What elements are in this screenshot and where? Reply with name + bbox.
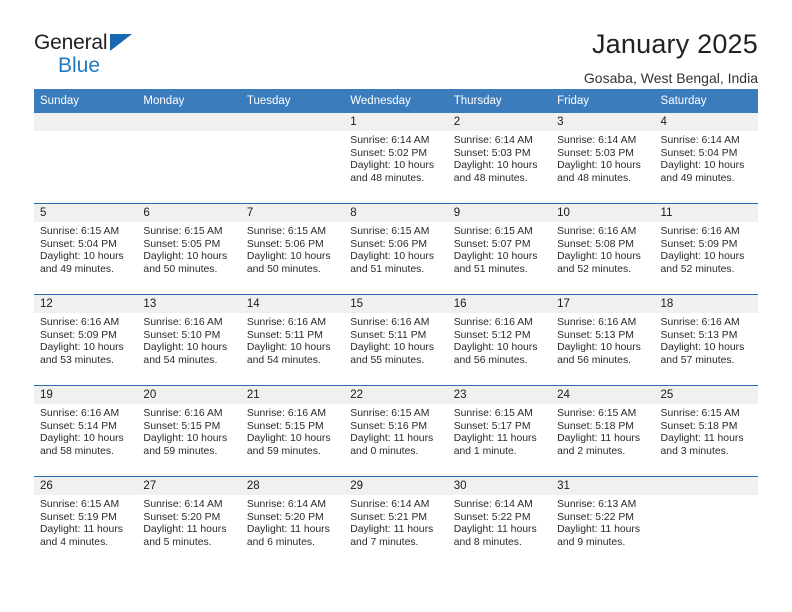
daylight-text-line1: Daylight: 10 hours: [350, 251, 441, 264]
day-sun-info: Sunrise: 6:15 AMSunset: 5:04 PMDaylight:…: [34, 222, 137, 276]
calendar-day-cell[interactable]: 12Sunrise: 6:16 AMSunset: 5:09 PMDayligh…: [34, 295, 137, 386]
sunset-text: Sunset: 5:03 PM: [454, 148, 545, 161]
daylight-text-line2: and 4 minutes.: [40, 537, 131, 550]
page-title: January 2025: [584, 28, 758, 60]
day-number: [34, 113, 137, 131]
calendar-day-cell[interactable]: 25Sunrise: 6:15 AMSunset: 5:18 PMDayligh…: [655, 386, 758, 477]
sunset-text: Sunset: 5:17 PM: [454, 421, 545, 434]
daylight-text-line1: Daylight: 11 hours: [40, 524, 131, 537]
sunrise-text: Sunrise: 6:14 AM: [454, 135, 545, 148]
calendar-day-content: 13Sunrise: 6:16 AMSunset: 5:10 PMDayligh…: [137, 295, 240, 385]
day-number: 2: [448, 113, 551, 131]
daylight-text-line1: Daylight: 11 hours: [350, 524, 441, 537]
daylight-text-line1: Daylight: 11 hours: [350, 433, 441, 446]
day-number: 7: [241, 204, 344, 222]
sunset-text: Sunset: 5:04 PM: [40, 239, 131, 252]
sunrise-text: Sunrise: 6:14 AM: [661, 135, 752, 148]
calendar-day-cell[interactable]: 28Sunrise: 6:14 AMSunset: 5:20 PMDayligh…: [241, 477, 344, 568]
weekday-header-wednesday: Wednesday: [344, 89, 447, 113]
calendar-day-content: 4Sunrise: 6:14 AMSunset: 5:04 PMDaylight…: [655, 113, 758, 203]
daylight-text-line1: Daylight: 11 hours: [454, 433, 545, 446]
day-number: 16: [448, 295, 551, 313]
calendar-day-cell[interactable]: 4Sunrise: 6:14 AMSunset: 5:04 PMDaylight…: [655, 113, 758, 204]
daylight-text-line2: and 59 minutes.: [247, 446, 338, 459]
sunset-text: Sunset: 5:22 PM: [557, 512, 648, 525]
daylight-text-line1: Daylight: 10 hours: [143, 342, 234, 355]
sunrise-text: Sunrise: 6:15 AM: [247, 226, 338, 239]
page-header: General Blue January 2025 Gosaba, West B…: [0, 0, 792, 75]
day-number: 26: [34, 477, 137, 495]
calendar-day-content: 9Sunrise: 6:15 AMSunset: 5:07 PMDaylight…: [448, 204, 551, 294]
daylight-text-line1: Daylight: 10 hours: [247, 251, 338, 264]
calendar-body: 1Sunrise: 6:14 AMSunset: 5:02 PMDaylight…: [34, 113, 758, 567]
sunrise-text: Sunrise: 6:16 AM: [557, 226, 648, 239]
sunset-text: Sunset: 5:08 PM: [557, 239, 648, 252]
sunset-text: Sunset: 5:02 PM: [350, 148, 441, 161]
daylight-text-line2: and 54 minutes.: [143, 355, 234, 368]
daylight-text-line2: and 49 minutes.: [661, 173, 752, 186]
sunset-text: Sunset: 5:10 PM: [143, 330, 234, 343]
daylight-text-line1: Daylight: 10 hours: [557, 251, 648, 264]
calendar-day-empty: [241, 113, 344, 203]
calendar-day-empty: [34, 113, 137, 203]
sunset-text: Sunset: 5:05 PM: [143, 239, 234, 252]
calendar-day-cell[interactable]: 22Sunrise: 6:15 AMSunset: 5:16 PMDayligh…: [344, 386, 447, 477]
day-sun-info: Sunrise: 6:14 AMSunset: 5:03 PMDaylight:…: [551, 131, 654, 185]
daylight-text-line2: and 8 minutes.: [454, 537, 545, 550]
daylight-text-line1: Daylight: 11 hours: [247, 524, 338, 537]
sunset-text: Sunset: 5:22 PM: [454, 512, 545, 525]
day-sun-info: Sunrise: 6:14 AMSunset: 5:02 PMDaylight:…: [344, 131, 447, 185]
day-number: 23: [448, 386, 551, 404]
sunset-text: Sunset: 5:15 PM: [143, 421, 234, 434]
day-sun-info: Sunrise: 6:14 AMSunset: 5:21 PMDaylight:…: [344, 495, 447, 549]
sunrise-text: Sunrise: 6:15 AM: [661, 408, 752, 421]
daylight-text-line2: and 48 minutes.: [350, 173, 441, 186]
day-sun-info: Sunrise: 6:14 AMSunset: 5:04 PMDaylight:…: [655, 131, 758, 185]
calendar-week-row: 1Sunrise: 6:14 AMSunset: 5:02 PMDaylight…: [34, 113, 758, 204]
day-sun-info: Sunrise: 6:16 AMSunset: 5:13 PMDaylight:…: [551, 313, 654, 367]
daylight-text-line1: Daylight: 10 hours: [40, 433, 131, 446]
daylight-text-line2: and 55 minutes.: [350, 355, 441, 368]
sunset-text: Sunset: 5:15 PM: [247, 421, 338, 434]
calendar-day-cell[interactable]: [655, 477, 758, 568]
calendar-day-content: 25Sunrise: 6:15 AMSunset: 5:18 PMDayligh…: [655, 386, 758, 476]
day-sun-info: Sunrise: 6:16 AMSunset: 5:13 PMDaylight:…: [655, 313, 758, 367]
sunset-text: Sunset: 5:09 PM: [40, 330, 131, 343]
daylight-text-line1: Daylight: 11 hours: [557, 524, 648, 537]
sunrise-text: Sunrise: 6:16 AM: [661, 317, 752, 330]
daylight-text-line1: Daylight: 10 hours: [557, 160, 648, 173]
sunset-text: Sunset: 5:04 PM: [661, 148, 752, 161]
day-number: 10: [551, 204, 654, 222]
calendar-day-cell[interactable]: 13Sunrise: 6:16 AMSunset: 5:10 PMDayligh…: [137, 295, 240, 386]
calendar-day-content: 30Sunrise: 6:14 AMSunset: 5:22 PMDayligh…: [448, 477, 551, 567]
day-number: 25: [655, 386, 758, 404]
calendar-day-content: 10Sunrise: 6:16 AMSunset: 5:08 PMDayligh…: [551, 204, 654, 294]
sunset-text: Sunset: 5:11 PM: [350, 330, 441, 343]
calendar-day-content: 27Sunrise: 6:14 AMSunset: 5:20 PMDayligh…: [137, 477, 240, 567]
weekday-header-sunday: Sunday: [34, 89, 137, 113]
daylight-text-line1: Daylight: 10 hours: [350, 342, 441, 355]
calendar-day-content: 24Sunrise: 6:15 AMSunset: 5:18 PMDayligh…: [551, 386, 654, 476]
calendar-day-content: 17Sunrise: 6:16 AMSunset: 5:13 PMDayligh…: [551, 295, 654, 385]
sunrise-text: Sunrise: 6:16 AM: [143, 317, 234, 330]
sunset-text: Sunset: 5:18 PM: [661, 421, 752, 434]
sunrise-text: Sunrise: 6:16 AM: [661, 226, 752, 239]
sunrise-text: Sunrise: 6:16 AM: [40, 317, 131, 330]
calendar-day-cell[interactable]: 7Sunrise: 6:15 AMSunset: 5:06 PMDaylight…: [241, 204, 344, 295]
day-sun-info: Sunrise: 6:16 AMSunset: 5:09 PMDaylight:…: [34, 313, 137, 367]
calendar-day-content: 3Sunrise: 6:14 AMSunset: 5:03 PMDaylight…: [551, 113, 654, 203]
calendar-day-content: 29Sunrise: 6:14 AMSunset: 5:21 PMDayligh…: [344, 477, 447, 567]
sunset-text: Sunset: 5:11 PM: [247, 330, 338, 343]
sunrise-text: Sunrise: 6:16 AM: [454, 317, 545, 330]
daylight-text-line1: Daylight: 10 hours: [143, 251, 234, 264]
day-number: 18: [655, 295, 758, 313]
sunset-text: Sunset: 5:16 PM: [350, 421, 441, 434]
daylight-text-line1: Daylight: 10 hours: [40, 342, 131, 355]
day-sun-info: Sunrise: 6:14 AMSunset: 5:22 PMDaylight:…: [448, 495, 551, 549]
calendar-day-content: 18Sunrise: 6:16 AMSunset: 5:13 PMDayligh…: [655, 295, 758, 385]
daylight-text-line2: and 48 minutes.: [454, 173, 545, 186]
calendar-day-cell[interactable]: [241, 113, 344, 204]
daylight-text-line2: and 52 minutes.: [557, 264, 648, 277]
daylight-text-line2: and 48 minutes.: [557, 173, 648, 186]
day-number: 31: [551, 477, 654, 495]
generalblue-logo: General Blue: [34, 28, 154, 80]
calendar-day-cell[interactable]: 19Sunrise: 6:16 AMSunset: 5:14 PMDayligh…: [34, 386, 137, 477]
calendar-day-cell[interactable]: 21Sunrise: 6:16 AMSunset: 5:15 PMDayligh…: [241, 386, 344, 477]
daylight-text-line1: Daylight: 11 hours: [661, 433, 752, 446]
day-number: [241, 113, 344, 131]
sunset-text: Sunset: 5:12 PM: [454, 330, 545, 343]
calendar-week-row: 5Sunrise: 6:15 AMSunset: 5:04 PMDaylight…: [34, 204, 758, 295]
daylight-text-line1: Daylight: 10 hours: [247, 342, 338, 355]
calendar-day-cell[interactable]: 15Sunrise: 6:16 AMSunset: 5:11 PMDayligh…: [344, 295, 447, 386]
weekday-header-saturday: Saturday: [655, 89, 758, 113]
daylight-text-line1: Daylight: 10 hours: [661, 251, 752, 264]
calendar-week-row: 19Sunrise: 6:16 AMSunset: 5:14 PMDayligh…: [34, 386, 758, 477]
day-number: 3: [551, 113, 654, 131]
calendar-day-cell[interactable]: 27Sunrise: 6:14 AMSunset: 5:20 PMDayligh…: [137, 477, 240, 568]
sunrise-text: Sunrise: 6:15 AM: [40, 226, 131, 239]
calendar-day-cell[interactable]: 29Sunrise: 6:14 AMSunset: 5:21 PMDayligh…: [344, 477, 447, 568]
daylight-text-line2: and 3 minutes.: [661, 446, 752, 459]
calendar-day-content: 7Sunrise: 6:15 AMSunset: 5:06 PMDaylight…: [241, 204, 344, 294]
weekday-header-tuesday: Tuesday: [241, 89, 344, 113]
sunrise-text: Sunrise: 6:14 AM: [557, 135, 648, 148]
day-sun-info: Sunrise: 6:15 AMSunset: 5:07 PMDaylight:…: [448, 222, 551, 276]
day-number: 27: [137, 477, 240, 495]
calendar-day-content: 6Sunrise: 6:15 AMSunset: 5:05 PMDaylight…: [137, 204, 240, 294]
day-sun-info: Sunrise: 6:14 AMSunset: 5:20 PMDaylight:…: [137, 495, 240, 549]
sunset-text: Sunset: 5:20 PM: [143, 512, 234, 525]
sunset-text: Sunset: 5:14 PM: [40, 421, 131, 434]
calendar-day-content: 11Sunrise: 6:16 AMSunset: 5:09 PMDayligh…: [655, 204, 758, 294]
daylight-text-line1: Daylight: 10 hours: [454, 342, 545, 355]
daylight-text-line2: and 50 minutes.: [143, 264, 234, 277]
sunrise-text: Sunrise: 6:14 AM: [143, 499, 234, 512]
calendar-day-content: 21Sunrise: 6:16 AMSunset: 5:15 PMDayligh…: [241, 386, 344, 476]
day-number: 8: [344, 204, 447, 222]
day-number: 29: [344, 477, 447, 495]
calendar-day-content: 12Sunrise: 6:16 AMSunset: 5:09 PMDayligh…: [34, 295, 137, 385]
day-number: 5: [34, 204, 137, 222]
sunrise-text: Sunrise: 6:15 AM: [454, 226, 545, 239]
day-number: 13: [137, 295, 240, 313]
day-number: [655, 477, 758, 495]
sunset-text: Sunset: 5:20 PM: [247, 512, 338, 525]
sunrise-text: Sunrise: 6:15 AM: [454, 408, 545, 421]
day-number: [137, 113, 240, 131]
daylight-text-line2: and 2 minutes.: [557, 446, 648, 459]
logo-triangle-icon: [110, 34, 132, 51]
calendar-day-cell[interactable]: 1Sunrise: 6:14 AMSunset: 5:02 PMDaylight…: [344, 113, 447, 204]
day-number: 24: [551, 386, 654, 404]
calendar-day-content: 28Sunrise: 6:14 AMSunset: 5:20 PMDayligh…: [241, 477, 344, 567]
daylight-text-line1: Daylight: 10 hours: [661, 160, 752, 173]
daylight-text-line2: and 58 minutes.: [40, 446, 131, 459]
day-number: 28: [241, 477, 344, 495]
daylight-text-line2: and 49 minutes.: [40, 264, 131, 277]
sunrise-text: Sunrise: 6:16 AM: [143, 408, 234, 421]
sunset-text: Sunset: 5:21 PM: [350, 512, 441, 525]
calendar-week-row: 12Sunrise: 6:16 AMSunset: 5:09 PMDayligh…: [34, 295, 758, 386]
calendar-day-content: 1Sunrise: 6:14 AMSunset: 5:02 PMDaylight…: [344, 113, 447, 203]
daylight-text-line1: Daylight: 10 hours: [40, 251, 131, 264]
day-sun-info: Sunrise: 6:16 AMSunset: 5:10 PMDaylight:…: [137, 313, 240, 367]
calendar-day-cell[interactable]: 14Sunrise: 6:16 AMSunset: 5:11 PMDayligh…: [241, 295, 344, 386]
calendar-day-cell[interactable]: 26Sunrise: 6:15 AMSunset: 5:19 PMDayligh…: [34, 477, 137, 568]
weekday-header-monday: Monday: [137, 89, 240, 113]
calendar-day-cell[interactable]: [137, 113, 240, 204]
sunrise-text: Sunrise: 6:13 AM: [557, 499, 648, 512]
daylight-text-line2: and 9 minutes.: [557, 537, 648, 550]
calendar-day-cell[interactable]: 31Sunrise: 6:13 AMSunset: 5:22 PMDayligh…: [551, 477, 654, 568]
calendar-day-cell[interactable]: 30Sunrise: 6:14 AMSunset: 5:22 PMDayligh…: [448, 477, 551, 568]
calendar-day-cell[interactable]: 17Sunrise: 6:16 AMSunset: 5:13 PMDayligh…: [551, 295, 654, 386]
sunrise-text: Sunrise: 6:15 AM: [143, 226, 234, 239]
daylight-text-line2: and 56 minutes.: [557, 355, 648, 368]
calendar-day-content: 26Sunrise: 6:15 AMSunset: 5:19 PMDayligh…: [34, 477, 137, 567]
sunset-text: Sunset: 5:13 PM: [661, 330, 752, 343]
day-number: 4: [655, 113, 758, 131]
daylight-text-line2: and 51 minutes.: [350, 264, 441, 277]
daylight-text-line1: Daylight: 10 hours: [454, 251, 545, 264]
sunset-text: Sunset: 5:06 PM: [350, 239, 441, 252]
day-number: 1: [344, 113, 447, 131]
sunrise-text: Sunrise: 6:14 AM: [247, 499, 338, 512]
daylight-text-line2: and 50 minutes.: [247, 264, 338, 277]
day-number: 20: [137, 386, 240, 404]
calendar-day-cell[interactable]: 23Sunrise: 6:15 AMSunset: 5:17 PMDayligh…: [448, 386, 551, 477]
daylight-text-line2: and 5 minutes.: [143, 537, 234, 550]
daylight-text-line2: and 54 minutes.: [247, 355, 338, 368]
day-number: 17: [551, 295, 654, 313]
day-number: 12: [34, 295, 137, 313]
day-number: 11: [655, 204, 758, 222]
sunrise-text: Sunrise: 6:16 AM: [247, 317, 338, 330]
day-number: 19: [34, 386, 137, 404]
day-sun-info: Sunrise: 6:16 AMSunset: 5:12 PMDaylight:…: [448, 313, 551, 367]
calendar-day-content: 16Sunrise: 6:16 AMSunset: 5:12 PMDayligh…: [448, 295, 551, 385]
calendar-day-content: 8Sunrise: 6:15 AMSunset: 5:06 PMDaylight…: [344, 204, 447, 294]
sunrise-text: Sunrise: 6:16 AM: [40, 408, 131, 421]
sunrise-text: Sunrise: 6:15 AM: [350, 226, 441, 239]
calendar-day-cell[interactable]: 10Sunrise: 6:16 AMSunset: 5:08 PMDayligh…: [551, 204, 654, 295]
calendar-day-cell[interactable]: 2Sunrise: 6:14 AMSunset: 5:03 PMDaylight…: [448, 113, 551, 204]
sunrise-text: Sunrise: 6:15 AM: [557, 408, 648, 421]
calendar-day-empty: [655, 477, 758, 567]
sunrise-text: Sunrise: 6:16 AM: [557, 317, 648, 330]
day-number: 6: [137, 204, 240, 222]
sunset-text: Sunset: 5:07 PM: [454, 239, 545, 252]
day-sun-info: Sunrise: 6:15 AMSunset: 5:18 PMDaylight:…: [551, 404, 654, 458]
day-sun-info: Sunrise: 6:15 AMSunset: 5:06 PMDaylight:…: [241, 222, 344, 276]
day-number: 22: [344, 386, 447, 404]
daylight-text-line1: Daylight: 10 hours: [661, 342, 752, 355]
daylight-text-line1: Daylight: 10 hours: [454, 160, 545, 173]
daylight-text-line1: Daylight: 10 hours: [247, 433, 338, 446]
calendar-page: General Blue January 2025 Gosaba, West B…: [0, 0, 792, 612]
day-number: 14: [241, 295, 344, 313]
calendar-day-content: 14Sunrise: 6:16 AMSunset: 5:11 PMDayligh…: [241, 295, 344, 385]
calendar-week-row: 26Sunrise: 6:15 AMSunset: 5:19 PMDayligh…: [34, 477, 758, 568]
calendar-day-cell[interactable]: 6Sunrise: 6:15 AMSunset: 5:05 PMDaylight…: [137, 204, 240, 295]
sunset-text: Sunset: 5:09 PM: [661, 239, 752, 252]
daylight-text-line2: and 51 minutes.: [454, 264, 545, 277]
daylight-text-line2: and 57 minutes.: [661, 355, 752, 368]
daylight-text-line2: and 52 minutes.: [661, 264, 752, 277]
weekday-header-thursday: Thursday: [448, 89, 551, 113]
calendar-day-content: 23Sunrise: 6:15 AMSunset: 5:17 PMDayligh…: [448, 386, 551, 476]
day-sun-info: Sunrise: 6:14 AMSunset: 5:20 PMDaylight:…: [241, 495, 344, 549]
daylight-text-line2: and 7 minutes.: [350, 537, 441, 550]
daylight-text-line2: and 53 minutes.: [40, 355, 131, 368]
day-sun-info: Sunrise: 6:15 AMSunset: 5:18 PMDaylight:…: [655, 404, 758, 458]
day-sun-info: Sunrise: 6:15 AMSunset: 5:16 PMDaylight:…: [344, 404, 447, 458]
calendar-day-cell[interactable]: 3Sunrise: 6:14 AMSunset: 5:03 PMDaylight…: [551, 113, 654, 204]
day-number: 9: [448, 204, 551, 222]
day-sun-info: Sunrise: 6:16 AMSunset: 5:11 PMDaylight:…: [241, 313, 344, 367]
daylight-text-line1: Daylight: 11 hours: [143, 524, 234, 537]
location-subtitle: Gosaba, West Bengal, India: [584, 70, 758, 87]
day-sun-info: Sunrise: 6:15 AMSunset: 5:17 PMDaylight:…: [448, 404, 551, 458]
day-sun-info: Sunrise: 6:14 AMSunset: 5:03 PMDaylight:…: [448, 131, 551, 185]
sunrise-text: Sunrise: 6:14 AM: [454, 499, 545, 512]
calendar-day-cell[interactable]: 20Sunrise: 6:16 AMSunset: 5:15 PMDayligh…: [137, 386, 240, 477]
calendar-day-cell[interactable]: 24Sunrise: 6:15 AMSunset: 5:18 PMDayligh…: [551, 386, 654, 477]
calendar-day-cell[interactable]: 8Sunrise: 6:15 AMSunset: 5:06 PMDaylight…: [344, 204, 447, 295]
calendar-day-empty: [137, 113, 240, 203]
day-sun-info: Sunrise: 6:16 AMSunset: 5:11 PMDaylight:…: [344, 313, 447, 367]
calendar-day-content: 2Sunrise: 6:14 AMSunset: 5:03 PMDaylight…: [448, 113, 551, 203]
calendar-day-content: 22Sunrise: 6:15 AMSunset: 5:16 PMDayligh…: [344, 386, 447, 476]
sunset-text: Sunset: 5:03 PM: [557, 148, 648, 161]
daylight-text-line1: Daylight: 10 hours: [557, 342, 648, 355]
calendar-day-cell[interactable]: 11Sunrise: 6:16 AMSunset: 5:09 PMDayligh…: [655, 204, 758, 295]
calendar-day-content: 19Sunrise: 6:16 AMSunset: 5:14 PMDayligh…: [34, 386, 137, 476]
calendar-day-cell[interactable]: 5Sunrise: 6:15 AMSunset: 5:04 PMDaylight…: [34, 204, 137, 295]
sunset-text: Sunset: 5:06 PM: [247, 239, 338, 252]
logo-text-general: General: [34, 32, 154, 54]
day-sun-info: Sunrise: 6:16 AMSunset: 5:14 PMDaylight:…: [34, 404, 137, 458]
daylight-text-line1: Daylight: 11 hours: [454, 524, 545, 537]
calendar-header-row: Sunday Monday Tuesday Wednesday Thursday…: [34, 89, 758, 113]
day-sun-info: Sunrise: 6:15 AMSunset: 5:05 PMDaylight:…: [137, 222, 240, 276]
sunset-text: Sunset: 5:19 PM: [40, 512, 131, 525]
day-number: 21: [241, 386, 344, 404]
weekday-header-friday: Friday: [551, 89, 654, 113]
sunrise-text: Sunrise: 6:16 AM: [247, 408, 338, 421]
daylight-text-line2: and 1 minute.: [454, 446, 545, 459]
calendar-day-cell[interactable]: 9Sunrise: 6:15 AMSunset: 5:07 PMDaylight…: [448, 204, 551, 295]
day-sun-info: Sunrise: 6:15 AMSunset: 5:19 PMDaylight:…: [34, 495, 137, 549]
day-number: 30: [448, 477, 551, 495]
daylight-text-line2: and 56 minutes.: [454, 355, 545, 368]
daylight-text-line2: and 6 minutes.: [247, 537, 338, 550]
daylight-text-line1: Daylight: 10 hours: [350, 160, 441, 173]
sunrise-text: Sunrise: 6:16 AM: [350, 317, 441, 330]
sunrise-text: Sunrise: 6:14 AM: [350, 499, 441, 512]
day-number: 15: [344, 295, 447, 313]
title-block: January 2025 Gosaba, West Bengal, India: [584, 28, 758, 87]
day-sun-info: Sunrise: 6:16 AMSunset: 5:09 PMDaylight:…: [655, 222, 758, 276]
calendar-day-content: 15Sunrise: 6:16 AMSunset: 5:11 PMDayligh…: [344, 295, 447, 385]
sunrise-text: Sunrise: 6:14 AM: [350, 135, 441, 148]
sunrise-text: Sunrise: 6:15 AM: [40, 499, 131, 512]
daylight-text-line1: Daylight: 10 hours: [143, 433, 234, 446]
day-sun-info: Sunrise: 6:16 AMSunset: 5:15 PMDaylight:…: [137, 404, 240, 458]
day-sun-info: Sunrise: 6:15 AMSunset: 5:06 PMDaylight:…: [344, 222, 447, 276]
calendar-day-cell[interactable]: [34, 113, 137, 204]
daylight-text-line2: and 0 minutes.: [350, 446, 441, 459]
day-sun-info: Sunrise: 6:16 AMSunset: 5:15 PMDaylight:…: [241, 404, 344, 458]
logo-text-blue: Blue: [58, 55, 154, 77]
day-sun-info: Sunrise: 6:16 AMSunset: 5:08 PMDaylight:…: [551, 222, 654, 276]
sunset-text: Sunset: 5:18 PM: [557, 421, 648, 434]
calendar-table: Sunday Monday Tuesday Wednesday Thursday…: [34, 89, 758, 567]
calendar-day-content: 20Sunrise: 6:16 AMSunset: 5:15 PMDayligh…: [137, 386, 240, 476]
sunset-text: Sunset: 5:13 PM: [557, 330, 648, 343]
calendar-day-cell[interactable]: 18Sunrise: 6:16 AMSunset: 5:13 PMDayligh…: [655, 295, 758, 386]
calendar-day-content: 5Sunrise: 6:15 AMSunset: 5:04 PMDaylight…: [34, 204, 137, 294]
calendar-day-content: 31Sunrise: 6:13 AMSunset: 5:22 PMDayligh…: [551, 477, 654, 567]
sunrise-text: Sunrise: 6:15 AM: [350, 408, 441, 421]
daylight-text-line1: Daylight: 11 hours: [557, 433, 648, 446]
day-sun-info: Sunrise: 6:13 AMSunset: 5:22 PMDaylight:…: [551, 495, 654, 549]
calendar-day-cell[interactable]: 16Sunrise: 6:16 AMSunset: 5:12 PMDayligh…: [448, 295, 551, 386]
daylight-text-line2: and 59 minutes.: [143, 446, 234, 459]
